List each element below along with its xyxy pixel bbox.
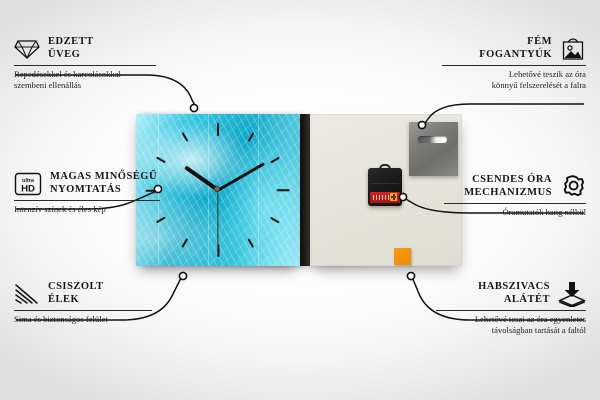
- callout-head: FÉM FOGANTYÚK: [442, 36, 586, 62]
- callout-metal-handles[interactable]: FÉM FOGANTYÚK Lehetővé teszik az óra kön…: [442, 36, 586, 91]
- callout-tempered-glass[interactable]: EDZETT ÜVEG Repedésekkel és karcolásokka…: [14, 36, 156, 91]
- hanger-slot: [418, 136, 447, 143]
- mechanism-hanger-loop: [379, 164, 391, 172]
- callout-description: Lehetővé teszi az óra egyenletes távolsá…: [436, 314, 586, 336]
- product-shadow: [140, 264, 460, 278]
- callout-divider: [442, 65, 586, 66]
- callout-silent-mechanism[interactable]: CSENDES ÓRA MECHANIZMUS Óramutatók hang …: [444, 174, 586, 218]
- metal-hanger-plate: [409, 122, 458, 176]
- clock-tick: [277, 189, 290, 191]
- callout-title: CSISZOLT ÉLEK: [48, 281, 104, 307]
- callout-description: Lehetővé teszik az óra könnyű felszerelé…: [442, 69, 586, 91]
- polished-edge-icon: [14, 283, 40, 305]
- clock-back-panel: [310, 114, 462, 266]
- callout-divider: [14, 200, 160, 201]
- callout-high-quality-print[interactable]: ultra HD MAGAS MINŐSÉGŰ NYOMTATÁS Intenz…: [14, 171, 160, 215]
- diamond-icon: [14, 38, 40, 60]
- gear-icon: [560, 174, 586, 199]
- connector-dot-tempered-glass: [190, 104, 197, 111]
- glass-seam: [208, 114, 209, 266]
- glass-seam: [258, 114, 259, 266]
- callout-divider: [14, 65, 156, 66]
- callout-title: CSENDES ÓRA MECHANIZMUS: [464, 174, 552, 200]
- callout-head: CSISZOLT ÉLEK: [14, 281, 152, 307]
- callout-description: Óramutatók hang nélkül: [444, 207, 586, 218]
- callout-title: HABSZIVACS ALÁTÉT: [478, 281, 550, 307]
- callout-description: Intenzív színek és éles kép: [14, 204, 160, 215]
- callout-divider: [444, 203, 586, 204]
- callout-head: HABSZIVACS ALÁTÉT: [436, 281, 586, 307]
- infographic-stage: EDZETT ÜVEG Repedésekkel és karcolásokka…: [0, 0, 600, 400]
- foam-pad-icon: [558, 281, 586, 307]
- callout-title: EDZETT ÜVEG: [48, 36, 94, 62]
- callout-head: EDZETT ÜVEG: [14, 36, 156, 62]
- foam-spacer-pad: [394, 248, 411, 265]
- clock-mechanism-box: [368, 168, 402, 206]
- callout-polished-edges[interactable]: CSISZOLT ÉLEK Sima és biztonságos felüle…: [14, 281, 152, 325]
- svg-text:HD: HD: [21, 183, 35, 194]
- callout-description: Repedésekkel és karcolásokkal szembeni e…: [14, 69, 156, 91]
- battery: [370, 192, 400, 203]
- glass-panel-edge: [300, 114, 310, 266]
- callout-foam-pad[interactable]: HABSZIVACS ALÁTÉT Lehetővé teszi az óra …: [436, 281, 586, 336]
- callout-description: Sima és biztonságos felület: [14, 314, 152, 325]
- callout-head: CSENDES ÓRA MECHANIZMUS: [444, 174, 586, 200]
- callout-divider: [14, 310, 152, 311]
- ultra-hd-icon: ultra HD: [14, 172, 42, 196]
- callout-title: FÉM FOGANTYÚK: [479, 36, 552, 62]
- callout-title: MAGAS MINŐSÉGŰ NYOMTATÁS: [50, 171, 157, 197]
- picture-hanger-icon: [560, 37, 586, 61]
- callout-head: ultra HD MAGAS MINŐSÉGŰ NYOMTATÁS: [14, 171, 160, 197]
- callout-divider: [436, 310, 586, 311]
- battery-plus-terminal: [390, 193, 397, 201]
- clock-face-image: [136, 114, 300, 266]
- mechanism-seam: [371, 183, 399, 184]
- hand-center-cap: [214, 186, 220, 192]
